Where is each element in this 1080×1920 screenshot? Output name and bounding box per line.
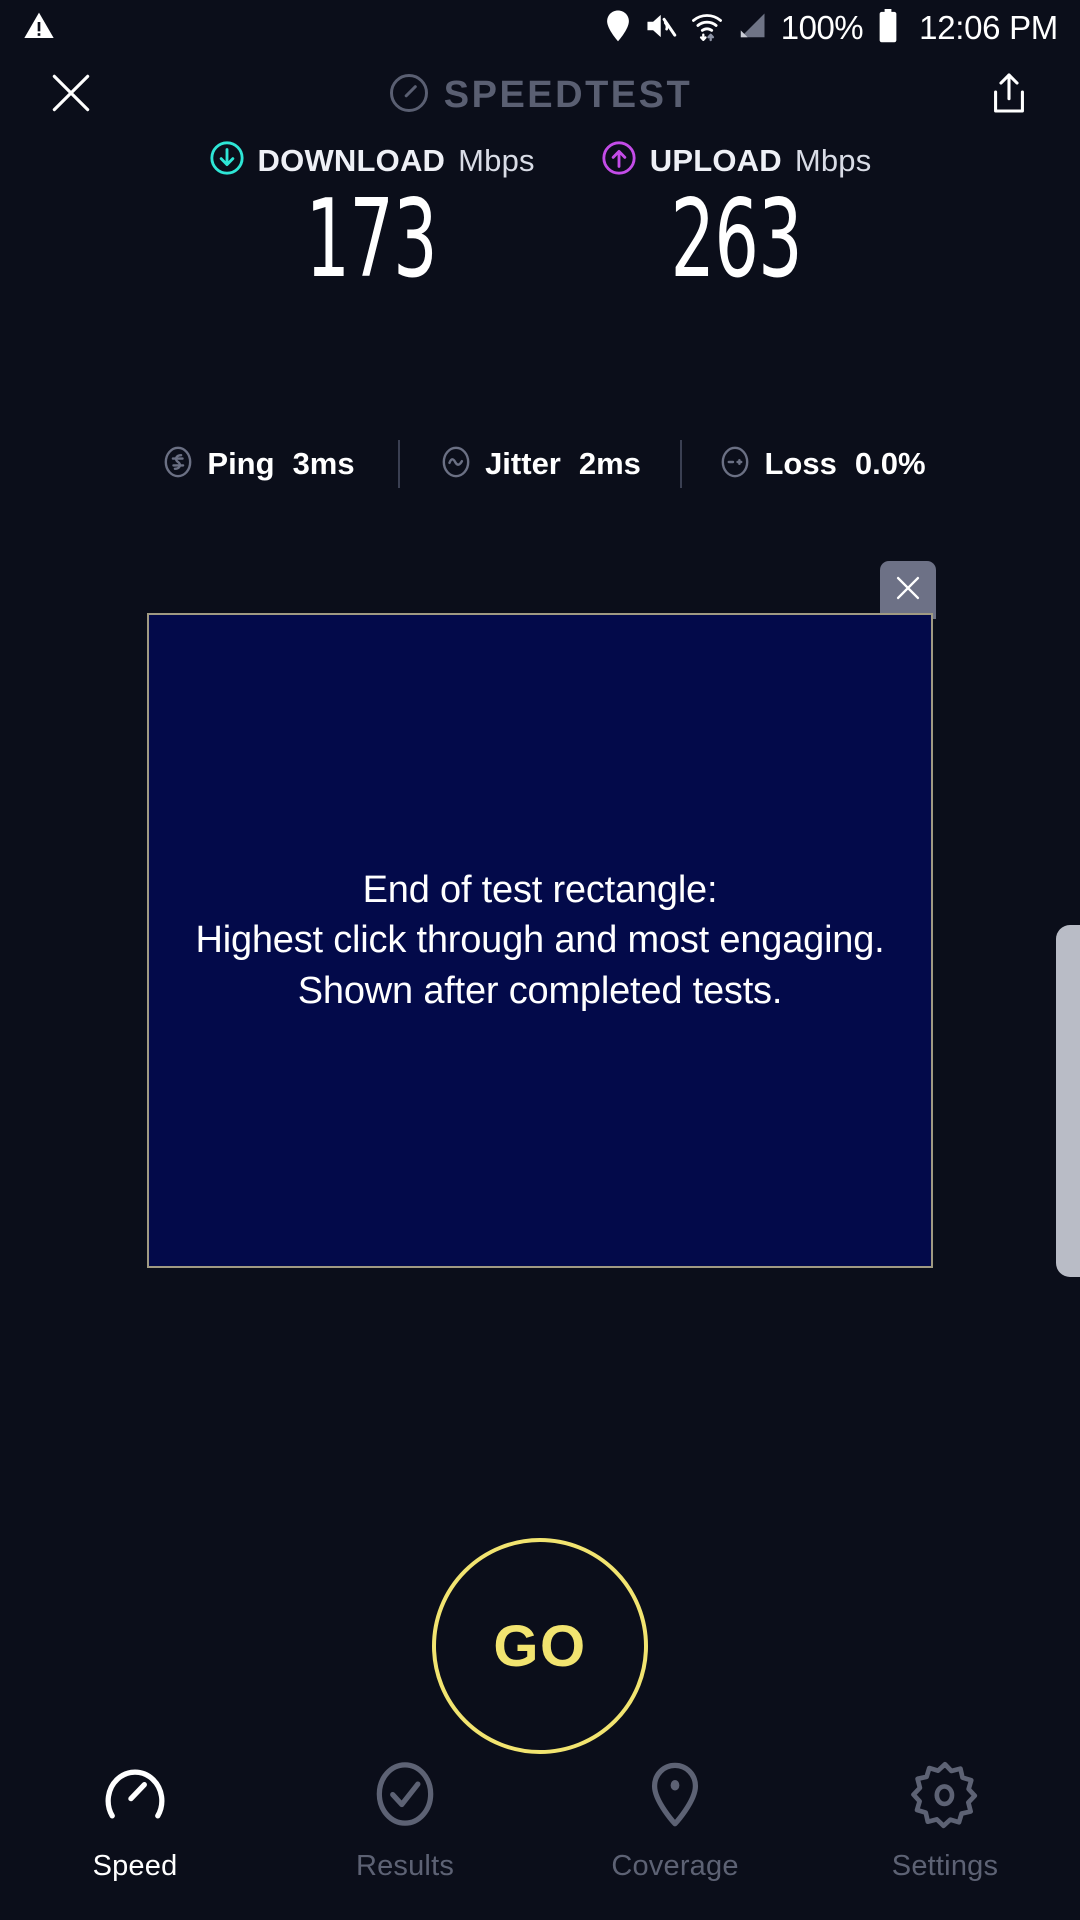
share-icon	[986, 70, 1032, 121]
status-bar-left	[22, 10, 56, 47]
test-results: DOWNLOAD Mbps 173 UPLOAD Mbps 263	[0, 140, 1080, 295]
download-label: DOWNLOAD	[258, 143, 446, 179]
nav-label-speed: Speed	[93, 1850, 178, 1883]
go-button[interactable]: GO	[432, 1538, 648, 1754]
jitter-icon	[439, 445, 473, 484]
battery-full-icon	[877, 9, 899, 48]
location-pin-icon	[605, 10, 631, 47]
check-circle-icon	[370, 1759, 440, 1834]
upload-label-row: UPLOAD Mbps	[601, 140, 872, 181]
download-upload-row: DOWNLOAD Mbps 173 UPLOAD Mbps 263	[0, 140, 1080, 295]
close-icon	[46, 68, 96, 123]
wifi-icon	[691, 10, 723, 47]
download-label-row: DOWNLOAD Mbps	[209, 140, 535, 181]
gear-icon	[910, 1759, 980, 1834]
upload-result: UPLOAD Mbps 263	[601, 140, 872, 295]
close-button[interactable]	[40, 64, 102, 126]
ad-banner[interactable]: End of test rectangle: Highest click thr…	[147, 613, 933, 1268]
cell-signal-icon	[737, 12, 767, 45]
location-pin-icon	[640, 1759, 710, 1834]
nav-item-speed[interactable]: Speed	[0, 1759, 270, 1883]
go-button-label: GO	[493, 1613, 586, 1680]
upload-unit: Mbps	[795, 143, 872, 179]
stat-ping-label: Ping	[207, 446, 274, 482]
status-bar: 100% 12:06 PM	[0, 0, 1080, 56]
upload-label: UPLOAD	[650, 143, 782, 179]
volume-muted-icon	[645, 11, 677, 46]
stat-loss-label: Loss	[764, 446, 836, 482]
bottom-navigation: Speed Results Coverage	[0, 1745, 1080, 1920]
ad-text-line-1: End of test rectangle:	[195, 865, 884, 916]
nav-label-coverage: Coverage	[611, 1850, 738, 1883]
network-stats-row: Ping 3ms Jitter 2ms	[0, 440, 1080, 488]
app-header: SPEEDTEST	[0, 56, 1080, 134]
nav-item-coverage[interactable]: Coverage	[540, 1759, 810, 1883]
nav-item-results[interactable]: Results	[270, 1759, 540, 1883]
stat-ping-value: 3ms	[293, 446, 355, 482]
share-button[interactable]	[978, 64, 1040, 126]
app-title-group: SPEEDTEST	[0, 72, 1080, 119]
ad-text-line-3: Shown after completed tests.	[195, 966, 884, 1017]
speedometer-icon	[388, 72, 430, 119]
nav-item-settings[interactable]: Settings	[810, 1759, 1080, 1883]
loss-icon	[718, 445, 752, 484]
close-icon	[891, 571, 925, 610]
nav-label-results: Results	[356, 1850, 454, 1883]
speedtest-app-screen: 100% 12:06 PM	[0, 0, 1080, 1920]
status-bar-right: 100% 12:06 PM	[605, 9, 1058, 48]
arrow-down-circle-icon	[209, 140, 245, 181]
download-unit: Mbps	[458, 143, 535, 179]
arrow-up-circle-icon	[601, 140, 637, 181]
speedometer-icon	[100, 1759, 170, 1834]
download-result: DOWNLOAD Mbps 173	[209, 140, 535, 295]
warning-triangle-icon	[22, 10, 56, 47]
stat-loss-value: 0.0%	[855, 446, 926, 482]
page-title: SPEEDTEST	[444, 74, 692, 117]
ad-text: End of test rectangle: Highest click thr…	[195, 865, 884, 1017]
ad-text-line-2: Highest click through and most engaging.	[195, 915, 884, 966]
stat-jitter-label: Jitter	[485, 446, 561, 482]
stat-loss: Loss 0.0%	[682, 445, 962, 484]
scrollbar-thumb[interactable]	[1056, 925, 1080, 1277]
nav-label-settings: Settings	[892, 1850, 998, 1883]
ping-icon	[161, 445, 195, 484]
ad-close-button[interactable]	[880, 561, 936, 619]
status-bar-clock: 12:06 PM	[919, 9, 1058, 47]
battery-percent-label: 100%	[781, 9, 863, 47]
upload-value: 263	[670, 185, 801, 295]
stat-jitter-value: 2ms	[579, 446, 641, 482]
stat-ping: Ping 3ms	[118, 445, 398, 484]
stat-jitter: Jitter 2ms	[400, 445, 680, 484]
download-value: 173	[306, 185, 437, 295]
